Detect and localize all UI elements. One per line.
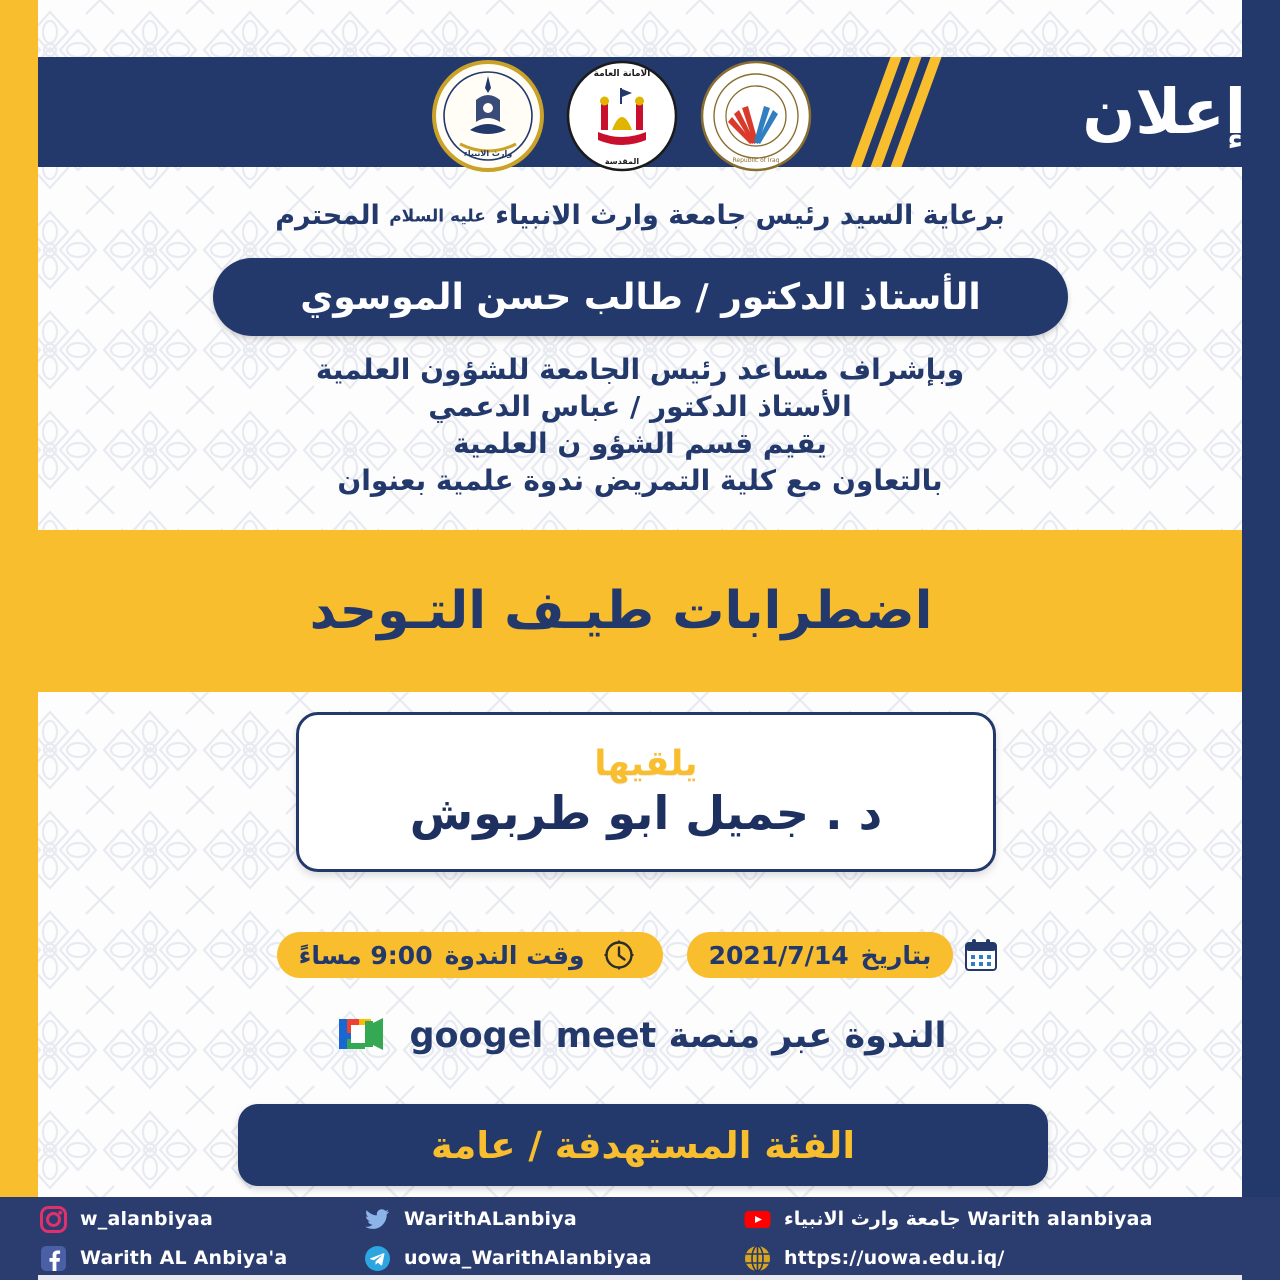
clock-icon — [597, 933, 641, 977]
seminar-title: اضطرابات طيـف التـوحد — [310, 581, 933, 641]
bottom-left-yellow-corner — [0, 1155, 38, 1197]
svg-text:الامانة العامة: الامانة العامة — [594, 69, 651, 79]
calendar-icon — [959, 933, 1003, 977]
social-item-twitter[interactable]: WarithALanbiya — [364, 1204, 734, 1234]
logo-row: وارث الانبياء الامانة العامة المقدسة — [432, 56, 812, 176]
facebook-icon — [40, 1245, 67, 1272]
telegram-icon — [364, 1245, 391, 1272]
youtube-icon — [744, 1206, 771, 1233]
instagram-icon — [40, 1206, 67, 1233]
twitter-handle: WarithALanbiya — [404, 1208, 577, 1230]
patronage-text: برعاية السيد رئيس جامعة وارث الانبياء — [495, 200, 1005, 231]
honorific-text: عليه السلام — [389, 207, 486, 227]
website-globe-icon — [744, 1245, 771, 1272]
svg-text:المقدسة: المقدسة — [605, 157, 639, 166]
time-value: 9:00 مساءً — [299, 941, 433, 970]
platform-row: الندوة عبر منصة googel meet — [0, 1005, 1280, 1067]
ministry-of-higher-education-iraq-logo: Republic of Iraq — [700, 60, 812, 172]
diagonal-stripes-decoration — [858, 57, 948, 167]
website-url: https://uowa.edu.iq/ — [784, 1247, 1005, 1269]
social-item-facebook[interactable]: Warith AL Anbiya'a — [40, 1243, 354, 1273]
twitter-icon — [364, 1206, 391, 1233]
time-label: وقت الندوة — [445, 941, 585, 970]
patronage-suffix: المحترم — [275, 200, 380, 231]
footer-baseline — [38, 1275, 1242, 1280]
university-of-warith-al-anbiyaa-logo: وارث الانبياء — [432, 60, 544, 172]
supervision-line-3: يقيم قسم الشؤو ن العلمية — [38, 426, 1242, 463]
instagram-handle: w_alanbiyaa — [80, 1208, 213, 1230]
supervision-line-2: الأستاذ الدكتور / عباس الدعمي — [38, 389, 1242, 426]
speaker-name: د . جميل ابو طربوش — [410, 786, 882, 840]
social-item-telegram[interactable]: uowa_WarithAlanbiyaa — [364, 1243, 734, 1273]
facebook-handle: Warith AL Anbiya'a — [80, 1247, 287, 1269]
speaker-box: يلقيها د . جميل ابو طربوش — [296, 712, 996, 872]
al-abbas-holy-shrine-logo: الامانة العامة المقدسة — [566, 60, 678, 172]
social-item-instagram[interactable]: w_alanbiyaa — [40, 1204, 354, 1234]
announcement-title: إعلان — [1082, 81, 1246, 143]
footer-column-2: WarithALanbiya uowa_WarithAlanbiyaa — [354, 1204, 734, 1273]
patronage-line: برعاية السيد رئيس جامعة وارث الانبياء عل… — [38, 200, 1242, 231]
date-value: 2021/7/14 — [709, 941, 849, 970]
meta-row: بتاريخ 2021/7/14 وقت الندوة 9:00 مساءً — [0, 925, 1280, 985]
time-pill: وقت الندوة 9:00 مساءً — [277, 932, 663, 978]
svg-text:Republic of Iraq: Republic of Iraq — [733, 157, 780, 164]
date-group: بتاريخ 2021/7/14 — [687, 932, 1004, 978]
left-yellow-border — [0, 0, 38, 1197]
google-meet-icon — [333, 1011, 395, 1061]
date-label: بتاريخ — [861, 941, 932, 970]
president-name-pill: الأستاذ الدكتور / طالب حسن الموسوي — [213, 258, 1068, 336]
social-footer: w_alanbiyaa Warith AL Anbiya'a — [0, 1197, 1280, 1280]
social-item-youtube[interactable]: Warith alanbiyaa جامعة وارث الانبياء — [744, 1204, 1266, 1234]
social-item-website[interactable]: https://uowa.edu.iq/ — [744, 1243, 1266, 1273]
footer-column-1: w_alanbiyaa Warith AL Anbiya'a — [14, 1204, 354, 1273]
president-name: الأستاذ الدكتور / طالب حسن الموسوي — [300, 277, 980, 318]
seminar-title-band: اضطرابات طيـف التـوحد — [0, 530, 1242, 692]
target-audience-box: الفئة المستهدفة / عامة — [238, 1104, 1048, 1186]
date-pill: بتاريخ 2021/7/14 — [687, 932, 954, 978]
supervision-line-1: وبإشراف مساعد رئيس الجامعة للشؤون العلمي… — [38, 352, 1242, 389]
announcement-poster: إعلان وارث الانبياء الامانة العامة المقد… — [0, 0, 1280, 1280]
supervision-line-4: بالتعاون مع كلية التمريض ندوة علمية بعنو… — [38, 463, 1242, 500]
speaker-label: يلقيها — [594, 744, 697, 784]
supervision-block: وبإشراف مساعد رئيس الجامعة للشؤون العلمي… — [38, 352, 1242, 500]
svg-text:وارث الانبياء: وارث الانبياء — [464, 149, 513, 158]
youtube-handle: Warith alanbiyaa جامعة وارث الانبياء — [784, 1208, 1153, 1230]
target-audience-text: الفئة المستهدفة / عامة — [431, 1124, 855, 1167]
telegram-handle: uowa_WarithAlanbiyaa — [404, 1247, 652, 1269]
platform-text: الندوة عبر منصة googel meet — [409, 1016, 946, 1056]
footer-column-3: Warith alanbiyaa جامعة وارث الانبياء htt… — [734, 1204, 1266, 1273]
right-navy-border — [1242, 0, 1280, 1197]
